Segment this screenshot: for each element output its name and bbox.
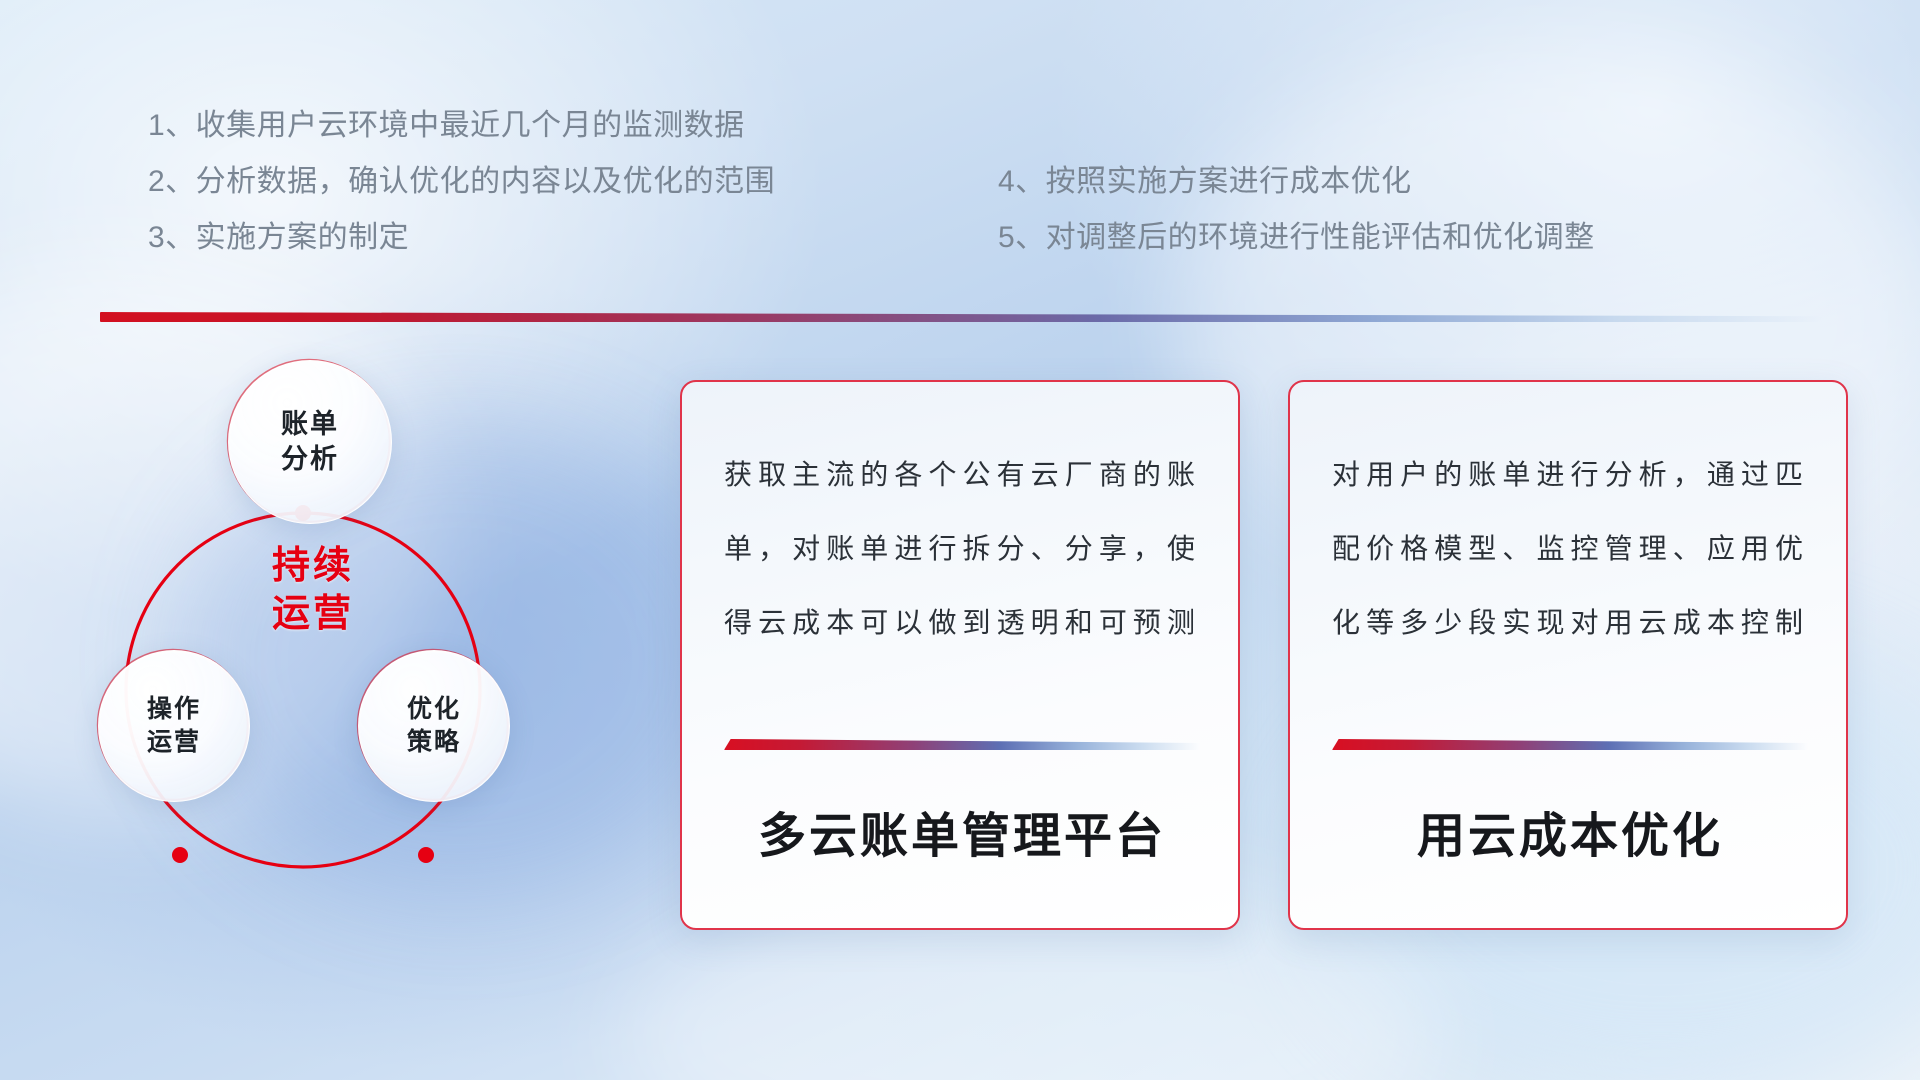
steps-left-column: 1、收集用户云环境中最近几个月的监测数据 2、分析数据，确认优化的内容以及优化的… — [148, 98, 775, 266]
card-2-body-line-3: 化等多少段实现对用云成本控制 — [1332, 586, 1804, 660]
connector-dot-right — [418, 847, 434, 863]
node-right-line-1: 优化 — [407, 693, 461, 726]
node-right-line-2: 策略 — [407, 726, 461, 759]
connector-dot-left — [172, 847, 188, 863]
center-label-line-2: 运营 — [218, 590, 408, 638]
steps-right-column: 4、按照实施方案进行成本优化 5、对调整后的环境进行性能评估和优化调整 — [998, 154, 1595, 266]
card-multicloud-billing[interactable]: 获取主流的各个公有云厂商的账 单，对账单进行拆分、分享，使 得云成本可以做到透明… — [680, 380, 1240, 930]
node-left-line-2: 运营 — [147, 726, 201, 759]
card-1-divider — [724, 739, 1200, 750]
top-accent-rule — [100, 312, 1822, 322]
card-2-divider — [1332, 739, 1808, 750]
diagram-node-operations[interactable]: 操作 运营 — [98, 650, 250, 802]
card-1-body: 获取主流的各个公有云厂商的账 单，对账单进行拆分、分享，使 得云成本可以做到透明… — [724, 438, 1196, 660]
step-item-4: 4、按照实施方案进行成本优化 — [998, 154, 1595, 210]
diagram-center-label: 持续 运营 — [218, 542, 408, 638]
continuous-operation-diagram: 账单 分析 操作 运营 优化 策略 持续 运营 — [90, 360, 560, 920]
slide-canvas: 1、收集用户云环境中最近几个月的监测数据 2、分析数据，确认优化的内容以及优化的… — [0, 0, 1920, 1080]
node-top-line-1: 账单 — [281, 407, 339, 442]
card-1-body-line-2: 单，对账单进行拆分、分享，使 — [724, 512, 1196, 586]
center-label-line-1: 持续 — [218, 542, 408, 590]
card-2-body: 对用户的账单进行分析，通过匹 配价格模型、监控管理、应用优 化等多少段实现对用云… — [1332, 438, 1804, 660]
card-2-body-line-2: 配价格模型、监控管理、应用优 — [1332, 512, 1804, 586]
step-item-3: 3、实施方案的制定 — [148, 210, 775, 266]
step-item-5: 5、对调整后的环境进行性能评估和优化调整 — [998, 210, 1595, 266]
node-left-line-1: 操作 — [147, 693, 201, 726]
card-2-body-line-1: 对用户的账单进行分析，通过匹 — [1332, 438, 1804, 512]
card-cloud-cost-optimization[interactable]: 对用户的账单进行分析，通过匹 配价格模型、监控管理、应用优 化等多少段实现对用云… — [1288, 380, 1848, 930]
card-1-body-line-1: 获取主流的各个公有云厂商的账 — [724, 438, 1196, 512]
card-1-title: 多云账单管理平台 — [724, 796, 1200, 866]
node-top-line-2: 分析 — [281, 442, 339, 477]
card-2-title: 用云成本优化 — [1332, 796, 1808, 866]
step-item-1: 1、收集用户云环境中最近几个月的监测数据 — [148, 98, 775, 154]
diagram-node-billing-analysis[interactable]: 账单 分析 — [228, 360, 392, 524]
card-1-body-line-3: 得云成本可以做到透明和可预测 — [724, 586, 1196, 660]
step-item-2: 2、分析数据，确认优化的内容以及优化的范围 — [148, 154, 775, 210]
steps-section: 1、收集用户云环境中最近几个月的监测数据 2、分析数据，确认优化的内容以及优化的… — [0, 0, 1920, 300]
diagram-node-optimization-strategy[interactable]: 优化 策略 — [358, 650, 510, 802]
